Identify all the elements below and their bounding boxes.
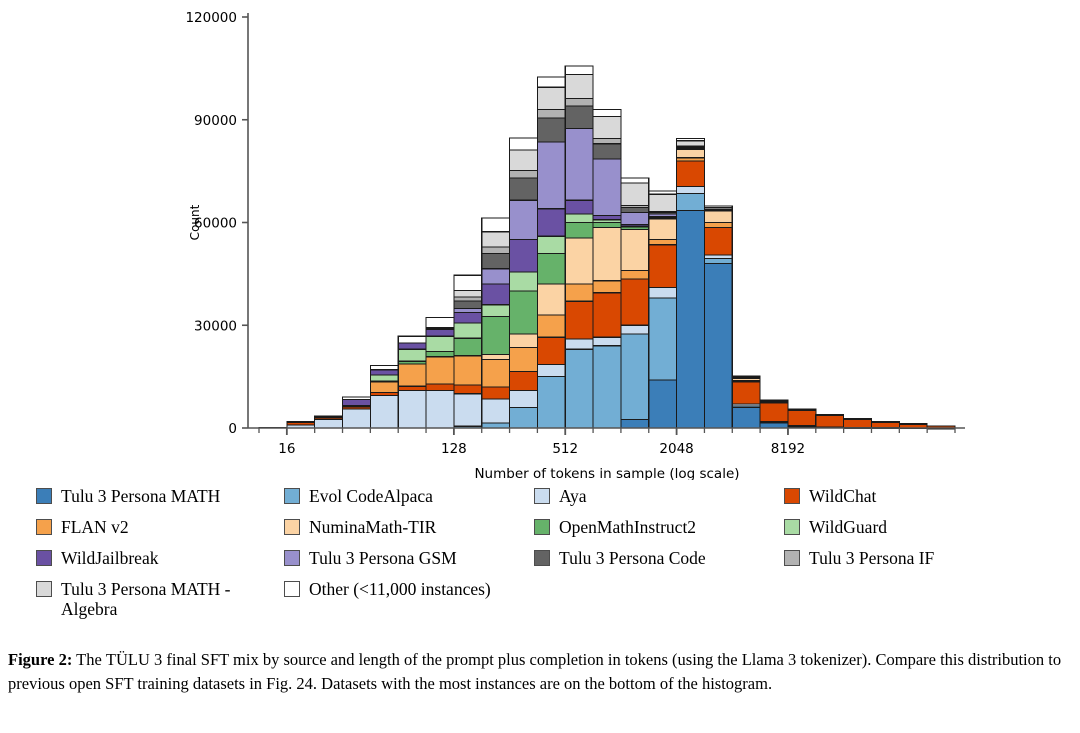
bar-segment <box>677 193 705 210</box>
bar-segment <box>287 421 315 422</box>
bar-segment <box>621 325 649 334</box>
bar-segment <box>593 139 621 144</box>
legend-item[interactable]: FLAN v2 <box>36 517 129 537</box>
bar-segment <box>482 317 510 355</box>
histogram-svg: 03000060000900001200001612851220488192Nu… <box>0 0 1080 480</box>
legend-item-label: WildChat <box>809 486 876 506</box>
legend-item[interactable]: NuminaMath-TIR <box>284 517 436 537</box>
legend-swatch-icon <box>36 519 52 535</box>
bar-segment <box>788 410 816 425</box>
y-tick-label: 90000 <box>194 113 237 129</box>
bar-segment <box>677 187 705 194</box>
bar-segment <box>565 339 593 349</box>
bar-segment <box>621 207 649 212</box>
bar-segment <box>537 315 565 337</box>
bar-segment <box>315 416 343 417</box>
legend-item-label: Tulu 3 Persona IF <box>809 548 934 568</box>
bar-segment <box>593 144 621 159</box>
bar-segment <box>593 293 621 338</box>
bar-segment <box>482 247 510 253</box>
bar-segment <box>398 336 426 343</box>
bar-segment <box>426 336 454 351</box>
legend-swatch-icon <box>284 519 300 535</box>
bar-segment <box>482 387 510 399</box>
bar-segment <box>510 200 538 239</box>
bar-segment <box>565 66 593 75</box>
bar-segment <box>510 407 538 428</box>
x-tick-label: 8192 <box>771 441 805 457</box>
bar-segment <box>537 284 565 315</box>
bar-segment <box>621 419 649 428</box>
bar-segment <box>593 337 621 346</box>
legend-item[interactable]: Tulu 3 Persona Code <box>534 548 706 568</box>
legend-item-label: WildGuard <box>809 517 887 537</box>
figure-caption: Figure 2: The TÜLU 3 final SFT mix by so… <box>8 648 1072 696</box>
bar-segment <box>593 109 621 116</box>
bar-segment <box>871 421 899 422</box>
bar-segment <box>704 228 732 255</box>
bar-segment <box>426 329 454 336</box>
bar-segment <box>649 245 677 288</box>
bar-segment <box>704 258 732 263</box>
legend-item[interactable]: OpenMathInstruct2 <box>534 517 696 537</box>
bar-segment <box>649 219 677 240</box>
bar-segment <box>315 419 343 428</box>
bar-segment <box>649 380 677 428</box>
bar-segment <box>426 384 454 390</box>
bar-segment <box>398 349 426 361</box>
bar-segment <box>482 269 510 284</box>
y-tick-label: 0 <box>228 421 237 437</box>
legend-swatch-icon <box>284 550 300 566</box>
bar-segment <box>593 228 621 281</box>
bar-segment <box>621 213 649 225</box>
bar-segment <box>426 352 454 357</box>
legend-swatch-icon <box>784 550 800 566</box>
legend-item[interactable]: WildChat <box>784 486 876 506</box>
x-tick-label: 2048 <box>659 441 693 457</box>
bar-segment <box>482 399 510 423</box>
bars-layer <box>259 66 955 429</box>
bar-segment <box>565 284 593 301</box>
bar-segment <box>704 223 732 228</box>
bar-segment <box>343 400 371 406</box>
bar-segment <box>454 323 482 338</box>
bar-segment <box>370 366 398 370</box>
bar-segment <box>593 116 621 138</box>
bar-segment <box>454 338 482 355</box>
bar-segment <box>732 407 760 428</box>
legend-item[interactable]: Aya <box>534 486 587 506</box>
bar-segment <box>370 382 398 392</box>
bar-segment <box>565 128 593 200</box>
bar-segment <box>621 270 649 279</box>
bar-segment <box>482 253 510 268</box>
bar-segment <box>704 206 732 207</box>
legend-item[interactable]: WildJailbreak <box>36 548 158 568</box>
legend-swatch-icon <box>784 488 800 504</box>
bar-segment <box>649 240 677 245</box>
legend-swatch-icon <box>284 581 300 597</box>
bar-segment <box>593 346 621 428</box>
bar-segment <box>510 150 538 171</box>
bar-segment <box>482 232 510 247</box>
bar-segment <box>482 284 510 305</box>
bar-segment <box>482 305 510 317</box>
tulu-smallcaps: TÜLU <box>106 650 150 669</box>
legend-swatch-icon <box>534 488 550 504</box>
bar-segment <box>565 200 593 214</box>
bar-segment <box>621 178 649 183</box>
bar-segment <box>565 214 593 223</box>
bar-segment <box>482 218 510 232</box>
bar-segment <box>621 279 649 325</box>
legend-item[interactable]: Other (<11,000 instances) <box>284 579 491 599</box>
histogram-plot: 03000060000900001200001612851220488192Nu… <box>0 0 1080 480</box>
bar-segment <box>537 209 565 236</box>
legend-item[interactable]: Tulu 3 Persona GSM <box>284 548 457 568</box>
bar-segment <box>593 159 621 216</box>
legend-item-label: Aya <box>559 486 587 506</box>
caption-body: The TÜLU 3 final SFT mix by source and l… <box>8 650 1061 693</box>
bar-segment <box>760 402 788 421</box>
bar-segment <box>454 313 482 323</box>
bar-segment <box>454 394 482 427</box>
bar-segment <box>649 298 677 380</box>
bar-segment <box>454 301 482 309</box>
bar-segment <box>398 364 426 386</box>
bar-segment <box>537 77 565 87</box>
legend-swatch-icon <box>784 519 800 535</box>
bar-segment <box>677 141 705 146</box>
x-axis-title: Number of tokens in sample (log scale) <box>474 466 739 480</box>
bar-segment <box>565 106 593 128</box>
bar-segment <box>537 109 565 118</box>
bar-segment <box>677 211 705 428</box>
bar-segment <box>510 240 538 273</box>
legend-item[interactable]: Tulu 3 Persona IF <box>784 548 934 568</box>
bar-segment <box>454 308 482 312</box>
legend-item-label: WildJailbreak <box>61 548 158 568</box>
bar-segment <box>454 356 482 385</box>
bar-segment <box>677 149 705 158</box>
bar-segment <box>370 395 398 428</box>
figure-2: 03000060000900001200001612851220488192Nu… <box>0 0 1080 733</box>
bar-segment <box>760 400 788 401</box>
bar-segment <box>537 377 565 428</box>
bar-segment <box>704 211 732 223</box>
bar-segment <box>649 191 677 194</box>
bar-segment <box>398 390 426 428</box>
legend-swatch-icon <box>534 519 550 535</box>
bar-segment <box>370 375 398 381</box>
x-tick-label: 16 <box>278 441 295 457</box>
bar-segment <box>649 194 677 211</box>
bar-segment <box>398 386 426 390</box>
bar-segment <box>454 275 482 290</box>
x-tick-label: 512 <box>552 441 578 457</box>
bar-segment <box>482 360 510 387</box>
bar-segment <box>426 357 454 384</box>
legend-item-label: Tulu 3 Persona GSM <box>309 548 457 568</box>
bar-segment <box>537 236 565 253</box>
bar-segment <box>565 99 593 107</box>
bar-segment <box>510 371 538 390</box>
bar-segment <box>510 272 538 291</box>
bar-segment <box>732 376 760 377</box>
bar-segment <box>816 414 844 415</box>
legend-item-label: Evol CodeAlpaca <box>309 486 433 506</box>
bar-segment <box>593 223 621 228</box>
bar-segment <box>398 343 426 349</box>
bar-segment <box>426 390 454 428</box>
legend-swatch-icon <box>36 488 52 504</box>
y-tick-label: 120000 <box>185 10 237 26</box>
bar-segment <box>593 216 621 220</box>
bar-segment <box>621 229 649 270</box>
bar-segment <box>621 183 649 205</box>
bar-segment <box>565 301 593 339</box>
legend-item-label: Tulu 3 Persona MATH <box>61 486 220 506</box>
bar-segment <box>565 238 593 284</box>
bar-segment <box>510 170 538 178</box>
bar-segment <box>844 419 872 420</box>
legend-item-label: Tulu 3 Persona Code <box>559 548 706 568</box>
bar-segment <box>565 75 593 99</box>
bar-segment <box>510 178 538 200</box>
bar-segment <box>510 291 538 334</box>
bar-segment <box>593 281 621 293</box>
legend-swatch-icon <box>36 550 52 566</box>
legend-item[interactable]: Evol CodeAlpaca <box>284 486 433 506</box>
bar-segment <box>565 223 593 238</box>
caption-prefix: Figure 2: <box>8 650 72 669</box>
legend-item-label: FLAN v2 <box>61 517 129 537</box>
y-axis-title: Count <box>188 204 202 240</box>
bar-segment <box>482 354 510 359</box>
bar-segment <box>537 87 565 109</box>
legend-item-label: Other (<11,000 instances) <box>309 579 491 599</box>
legend-swatch-icon <box>36 581 52 597</box>
legend-swatch-icon <box>534 550 550 566</box>
bar-segment <box>732 382 760 404</box>
bar-segment <box>844 419 872 428</box>
bar-segment <box>649 288 677 298</box>
y-tick-label: 30000 <box>194 318 237 334</box>
bar-segment <box>677 161 705 187</box>
legend: Tulu 3 Persona MATHEvol CodeAlpacaAyaWil… <box>0 486 1080 636</box>
bar-segment <box>426 317 454 327</box>
bar-segment <box>343 409 371 428</box>
legend-item-label: Tulu 3 Persona MATH - Algebra <box>61 579 231 619</box>
legend-item[interactable]: Tulu 3 Persona MATH - Algebra <box>36 579 231 619</box>
bar-segment <box>565 349 593 428</box>
bar-segment <box>677 139 705 141</box>
bar-segment <box>370 370 398 375</box>
bar-segment <box>537 253 565 284</box>
bar-segment <box>816 415 844 427</box>
bar-segment <box>704 264 732 428</box>
bar-segment <box>788 409 816 410</box>
bar-segment <box>899 424 927 425</box>
legend-item[interactable]: WildGuard <box>784 517 887 537</box>
bar-segment <box>537 337 565 364</box>
bar-segment <box>454 385 482 394</box>
bar-segment <box>510 390 538 407</box>
bar-segment <box>510 348 538 372</box>
bar-segment <box>537 142 565 209</box>
legend-swatch-icon <box>284 488 300 504</box>
bar-segment <box>537 365 565 377</box>
bar-segment <box>510 138 538 150</box>
bar-segment <box>454 297 482 301</box>
bar-segment <box>510 334 538 348</box>
bar-segment <box>621 334 649 420</box>
bar-segment <box>343 397 371 399</box>
legend-item-label: OpenMathInstruct2 <box>559 517 696 537</box>
bar-segment <box>537 118 565 142</box>
legend-item-label: NuminaMath-TIR <box>309 517 436 537</box>
legend-item[interactable]: Tulu 3 Persona MATH <box>36 486 220 506</box>
bar-segment <box>454 291 482 297</box>
x-tick-label: 128 <box>441 441 467 457</box>
